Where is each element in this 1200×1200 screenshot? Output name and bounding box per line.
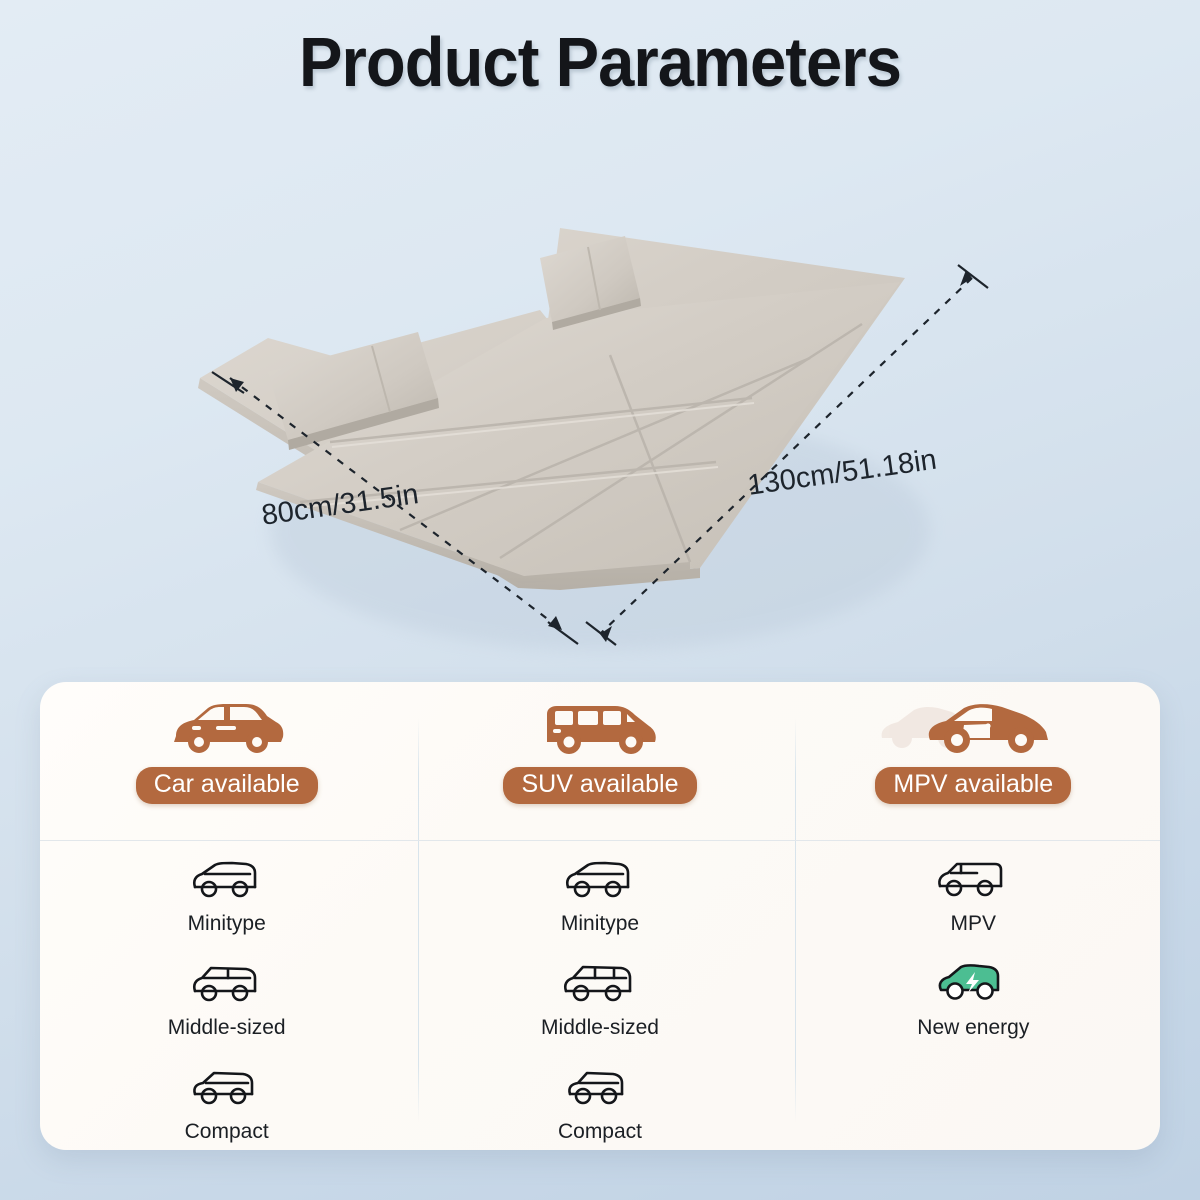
list-item-label: Compact <box>558 1120 642 1144</box>
column-header-suv: SUV available <box>413 696 786 804</box>
car-compact-icon <box>188 1062 266 1112</box>
mattress-illustration <box>0 110 1200 670</box>
list-item-label: MPV <box>951 912 997 936</box>
column-list-suv: Minitype Middle-si <box>413 854 786 1150</box>
list-item[interactable]: Compact <box>558 1062 642 1144</box>
car-middle-sized-icon <box>188 958 266 1008</box>
list-item[interactable]: Middle-sized <box>541 958 659 1040</box>
list-item[interactable]: Minitype <box>561 854 639 936</box>
suv-minivan-icon <box>539 696 661 758</box>
badge-car-available[interactable]: Car available <box>136 767 318 804</box>
suv-compact-icon <box>563 1062 637 1112</box>
column-header-car: Car available <box>40 696 413 804</box>
list-item-label: Compact <box>185 1120 269 1144</box>
mpv-coupe-icon <box>878 696 1068 758</box>
list-item-label: Middle-sized <box>168 1016 286 1040</box>
badge-mpv-available[interactable]: MPV available <box>875 767 1071 804</box>
compatibility-column-car: Car available Minitype <box>40 682 413 1150</box>
list-item[interactable]: Minitype <box>188 854 266 936</box>
suv-minitype-icon <box>561 854 639 904</box>
list-item-label: Minitype <box>561 912 639 936</box>
list-item-label: Middle-sized <box>541 1016 659 1040</box>
compatibility-card: Car available Minitype <box>40 682 1160 1150</box>
list-item[interactable]: MPV <box>933 854 1013 936</box>
mpv-van-icon <box>933 854 1013 904</box>
list-item-label: Minitype <box>188 912 266 936</box>
car-minitype-icon <box>188 854 266 904</box>
product-hero-image <box>0 110 1200 670</box>
compatibility-column-mpv: MPV available MPV <box>787 682 1160 1150</box>
column-list-car: Minitype Middle-sized <box>40 854 413 1150</box>
page-title: Product Parameters <box>42 22 1158 102</box>
compatibility-column-suv: SUV available Minitype <box>413 682 786 1150</box>
list-item[interactable]: Compact <box>185 1062 269 1144</box>
suv-middle-sized-icon <box>559 958 641 1008</box>
car-hatchback-icon <box>168 696 286 758</box>
list-item-label: New energy <box>917 1016 1029 1040</box>
column-header-mpv: MPV available <box>787 696 1160 804</box>
column-list-mpv: MPV New energy <box>787 854 1160 1062</box>
new-energy-car-icon <box>933 958 1013 1008</box>
list-item[interactable]: New energy <box>917 958 1029 1040</box>
badge-suv-available[interactable]: SUV available <box>503 767 696 804</box>
list-item[interactable]: Middle-sized <box>168 958 286 1040</box>
